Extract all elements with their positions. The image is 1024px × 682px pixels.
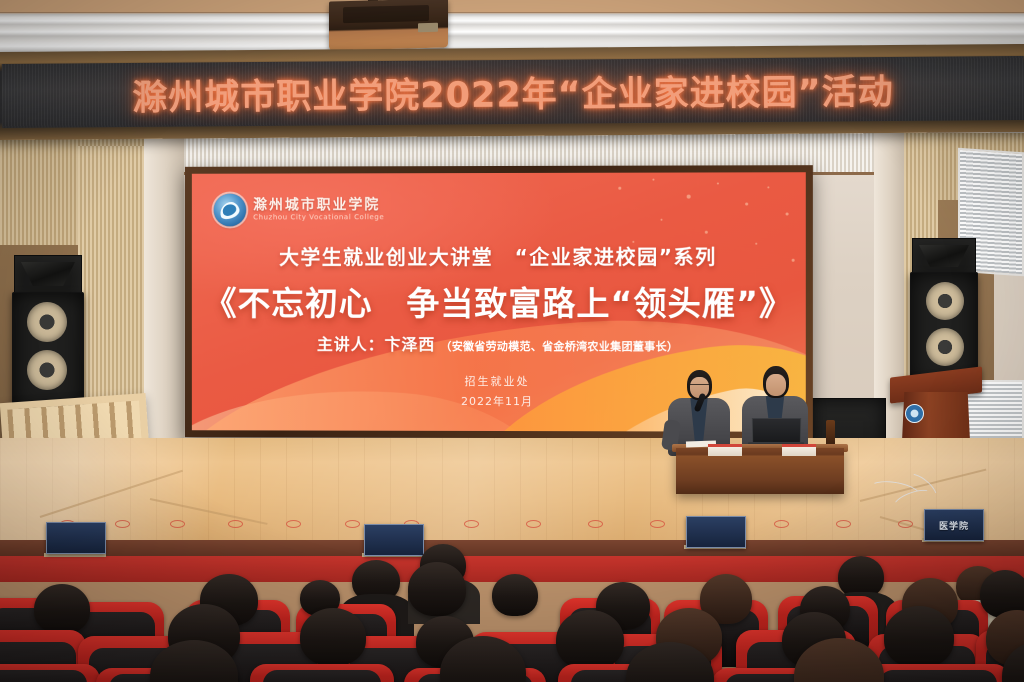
speaker-cone-right-upper [926, 282, 964, 320]
host-right-face [766, 374, 786, 396]
college-name-en: Chuzhou City Vocational College [253, 214, 384, 222]
podium-emblem [905, 404, 924, 423]
screen-organizer: 招生就业处 [192, 373, 806, 390]
speaker-cone-left-lower [27, 350, 67, 390]
auditorium-photo: 滁州城市职业学院2022年“企业家进校园”活动 [0, 0, 1024, 682]
speaker-credentials: （安徽省劳动模范、省金桥湾农业集团董事长） [440, 340, 678, 353]
audience-seat[interactable] [250, 664, 394, 682]
audience-seat[interactable] [866, 664, 1010, 682]
speaker-left-glasses [690, 384, 709, 389]
screen-speaker-line: 主讲人：卞泽西 （安徽省劳动模范、省金桥湾农业集团董事长） [192, 331, 806, 355]
college-name-cn: 滁州城市职业学院 [253, 198, 384, 213]
speaker-cone-left-upper [27, 302, 67, 342]
speaker-cone-right-lower [926, 328, 964, 366]
ceiling-seam [0, 12, 1024, 13]
audience-head [556, 610, 624, 670]
head-table [676, 448, 844, 494]
audience-seat[interactable] [0, 664, 100, 682]
audience-head [884, 606, 954, 668]
nameplate-left [708, 444, 742, 456]
audience-head [34, 584, 90, 634]
projector-icon [329, 0, 448, 51]
projection-screen: 滁州城市职业学院 Chuzhou City Vocational College… [192, 172, 806, 432]
audience-head [492, 574, 538, 616]
led-banner-panel: 滁州城市职业学院2022年“企业家进校园”活动 [2, 56, 1024, 128]
audience-area [0, 512, 1024, 682]
screen-series-line: 大学生就业创业大讲堂 “企业家进校园”系列 [192, 241, 806, 271]
audience-head [408, 562, 466, 616]
led-banner: 滁州城市职业学院2022年“企业家进校园”活动 [0, 44, 1024, 140]
nameplate-right [782, 444, 816, 456]
sparkle-decoration [594, 172, 806, 293]
screen-title: 《不忘初心 争当致富路上“领头雁”》 [192, 277, 806, 325]
loudspeaker-icon-right-horn [912, 238, 976, 274]
speaker-name: 主讲人：卞泽西 [317, 335, 435, 354]
loudspeaker-icon-left-horn [14, 255, 82, 293]
college-emblem-icon [214, 194, 247, 227]
college-logo: 滁州城市职业学院 Chuzhou City Vocational College [214, 193, 385, 226]
wall-pillar-left [144, 126, 184, 486]
led-banner-text: 滁州城市职业学院2022年“企业家进校园”活动 [2, 62, 1024, 121]
water-bottle [826, 420, 835, 446]
audience-head [300, 608, 366, 666]
